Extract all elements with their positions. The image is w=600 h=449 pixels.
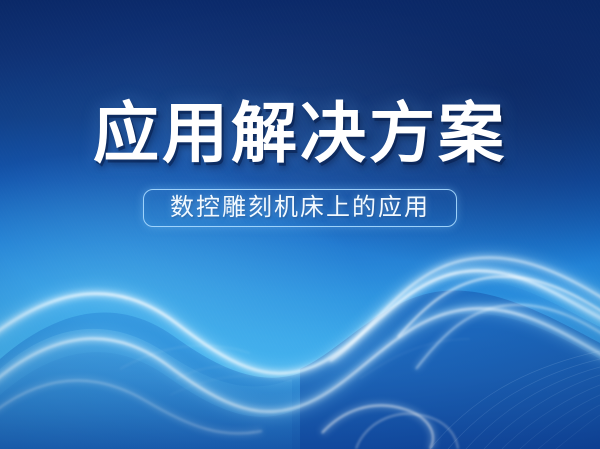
glowing-wave-ribbons — [0, 219, 600, 449]
application-solution-banner: 应用解决方案 数控雕刻机床上的应用 — [0, 0, 600, 449]
subtitle-badge: 数控雕刻机床上的应用 — [143, 189, 457, 227]
page-title: 应用解决方案 — [0, 96, 600, 170]
subtitle-wrapper: 数控雕刻机床上的应用 — [0, 189, 600, 227]
headline-block: 应用解决方案 数控雕刻机床上的应用 — [0, 96, 600, 227]
subtitle-text: 数控雕刻机床上的应用 — [170, 194, 430, 222]
